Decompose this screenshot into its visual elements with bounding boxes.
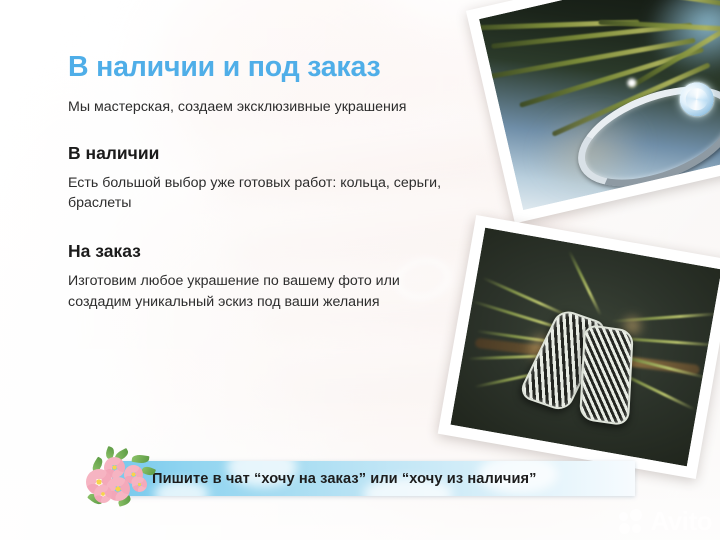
cta-banner[interactable]: Пишите в чат “хочу на заказ” или “хочу и… <box>112 461 635 496</box>
promo-slide: В наличии и под заказ Мы мастерская, соз… <box>0 0 720 540</box>
page-subtitle: Мы мастерская, создаем эксклюзивные укра… <box>68 98 488 117</box>
flower-shape <box>132 477 147 492</box>
section-custom-order: На заказ Изготовим любое украшение по ва… <box>68 241 488 311</box>
section-in-stock: В наличии Есть большой выбор уже готовых… <box>68 143 488 213</box>
photo-image <box>450 228 720 467</box>
section-in-stock-body: Есть большой выбор уже готовых работ: ко… <box>68 173 466 213</box>
section-custom-order-heading: На заказ <box>68 241 488 262</box>
photo-image <box>479 0 720 210</box>
avito-dot <box>630 509 642 521</box>
filigree-ring <box>579 324 634 427</box>
avito-logo-icon <box>619 509 645 533</box>
avito-dot <box>632 524 641 533</box>
avito-wordmark: Avito <box>650 508 712 534</box>
avito-dot <box>619 512 628 521</box>
page-title: В наличии и под заказ <box>68 52 488 84</box>
section-in-stock-heading: В наличии <box>68 143 488 164</box>
avito-dot <box>619 523 630 534</box>
cta-label: Пишите в чат “хочу на заказ” или “хочу и… <box>152 471 537 487</box>
flower-shape <box>94 485 112 503</box>
leaf-shape <box>141 465 156 477</box>
text-column: В наличии и под заказ Мы мастерская, соз… <box>68 52 488 312</box>
section-custom-order-body: Изготовим любое украшение по вашему фото… <box>68 271 466 311</box>
flower-decoration-icon <box>84 447 166 507</box>
avito-watermark: Avito <box>619 508 712 534</box>
leaf-shape <box>132 454 150 464</box>
